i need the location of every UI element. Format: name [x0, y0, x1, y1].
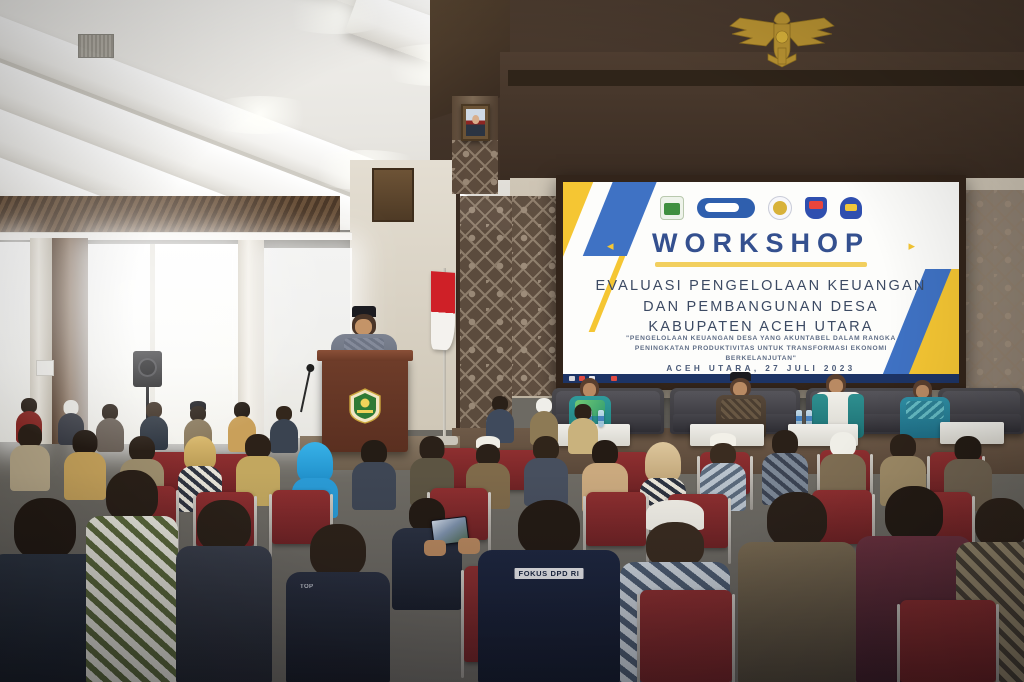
wall-notice: [36, 360, 54, 376]
carved-lattice-panel-screen-left: [510, 196, 556, 396]
shirt-text-label: TOP: [300, 584, 313, 590]
logo-kemendes-icon: [840, 197, 862, 219]
audience-person-front-2: [176, 500, 272, 682]
audience-person-batik-floral: [86, 470, 178, 682]
jacket-back-text: FOKUS DPD RI: [515, 568, 584, 579]
water-bottle-2: [598, 410, 604, 427]
indonesian-flag: [431, 271, 455, 351]
garuda-pancasila-emblem: [722, 4, 842, 74]
carved-lattice-panel-podium-right: [458, 196, 512, 428]
audience-person-front-left: [0, 498, 100, 682]
audience-person: [352, 440, 396, 504]
audience-person: [10, 424, 50, 486]
podium-emblem-icon: [348, 388, 382, 424]
audience-chair-front: [640, 590, 732, 682]
logo-dpd-ri-icon: [697, 198, 755, 218]
carved-lattice-panel-right: [966, 190, 1024, 398]
logo-kementerian-icon: [768, 196, 792, 220]
logo-kemendagri-icon: [805, 197, 827, 219]
slide-heading-underline: [655, 262, 867, 267]
slide-subtitle: "PENGELOLAAN KEUANGAN DESA YANG AKUNTABE…: [603, 334, 919, 364]
presidential-portrait-center: [461, 104, 490, 141]
presentation-slide: ◂ ▸ WORKSHOP EVALUASI PENGELOLAAN KEUANG…: [563, 182, 959, 383]
pa-speaker: [133, 351, 162, 387]
audience-person: [524, 436, 568, 500]
audience-hijab: [184, 436, 216, 470]
hand: [424, 540, 446, 556]
slide-main-title: EVALUASI PENGELOLAAN KEUANGAN DAN PEMBAN…: [589, 276, 933, 338]
slide-heading: WORKSHOP: [563, 228, 959, 259]
logo-pemkab-aceh-utara-icon: [660, 196, 684, 220]
slide-subtitle-line-1: "PENGELOLAAN KEUANGAN DESA YANG AKUNTABE…: [603, 334, 919, 344]
ceiling-vent-icon: [78, 34, 114, 58]
audience-person-fokus-jacket: FOKUS DPD RI: [478, 500, 620, 682]
slide-main-line-2: DAN PEMBANGUNAN DESA: [589, 297, 933, 318]
audience-person-front-right: [738, 492, 856, 682]
slide-main-line-1: EVALUASI PENGELOLAAN KEUANGAN: [589, 276, 933, 297]
audience-person: [762, 430, 808, 498]
audience-person: [236, 434, 280, 500]
audience-person-shirt-top: TOP: [286, 524, 390, 682]
conference-hall-photo: ◂ ▸ WORKSHOP EVALUASI PENGELOLAAN KEUANG…: [0, 0, 1024, 682]
slide-logo-row: [563, 196, 959, 220]
projection-screen[interactable]: ◂ ▸ WORKSHOP EVALUASI PENGELOLAAN KEUANG…: [556, 175, 966, 390]
slide-subtitle-line-2: PENINGKATAN PRODUKTIVITAS UNTUK TRANSFOR…: [603, 344, 919, 364]
podium: [322, 356, 408, 452]
hand: [458, 538, 480, 554]
audience-chair-front: [900, 600, 996, 682]
